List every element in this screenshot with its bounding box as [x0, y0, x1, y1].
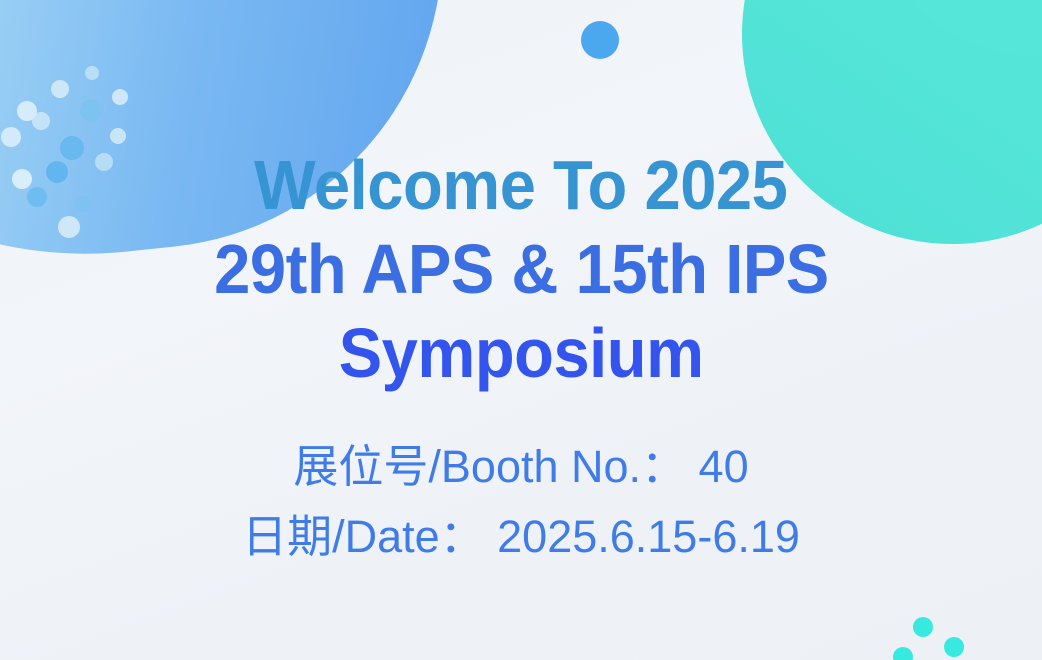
booth-number-text: 展位号/Booth No.： 40 [293, 433, 748, 501]
event-banner: Welcome To 2025 29th APS & 15th IPS Symp… [0, 0, 1042, 660]
headline-line-3: Symposium [339, 311, 704, 395]
event-date-text: 日期/Date： 2025.6.15-6.19 [242, 503, 800, 571]
headline-line-2: 29th APS & 15th IPS [214, 227, 829, 311]
headline-line-1: Welcome To 2025 [254, 143, 787, 227]
banner-content: Welcome To 2025 29th APS & 15th IPS Symp… [0, 0, 1042, 660]
